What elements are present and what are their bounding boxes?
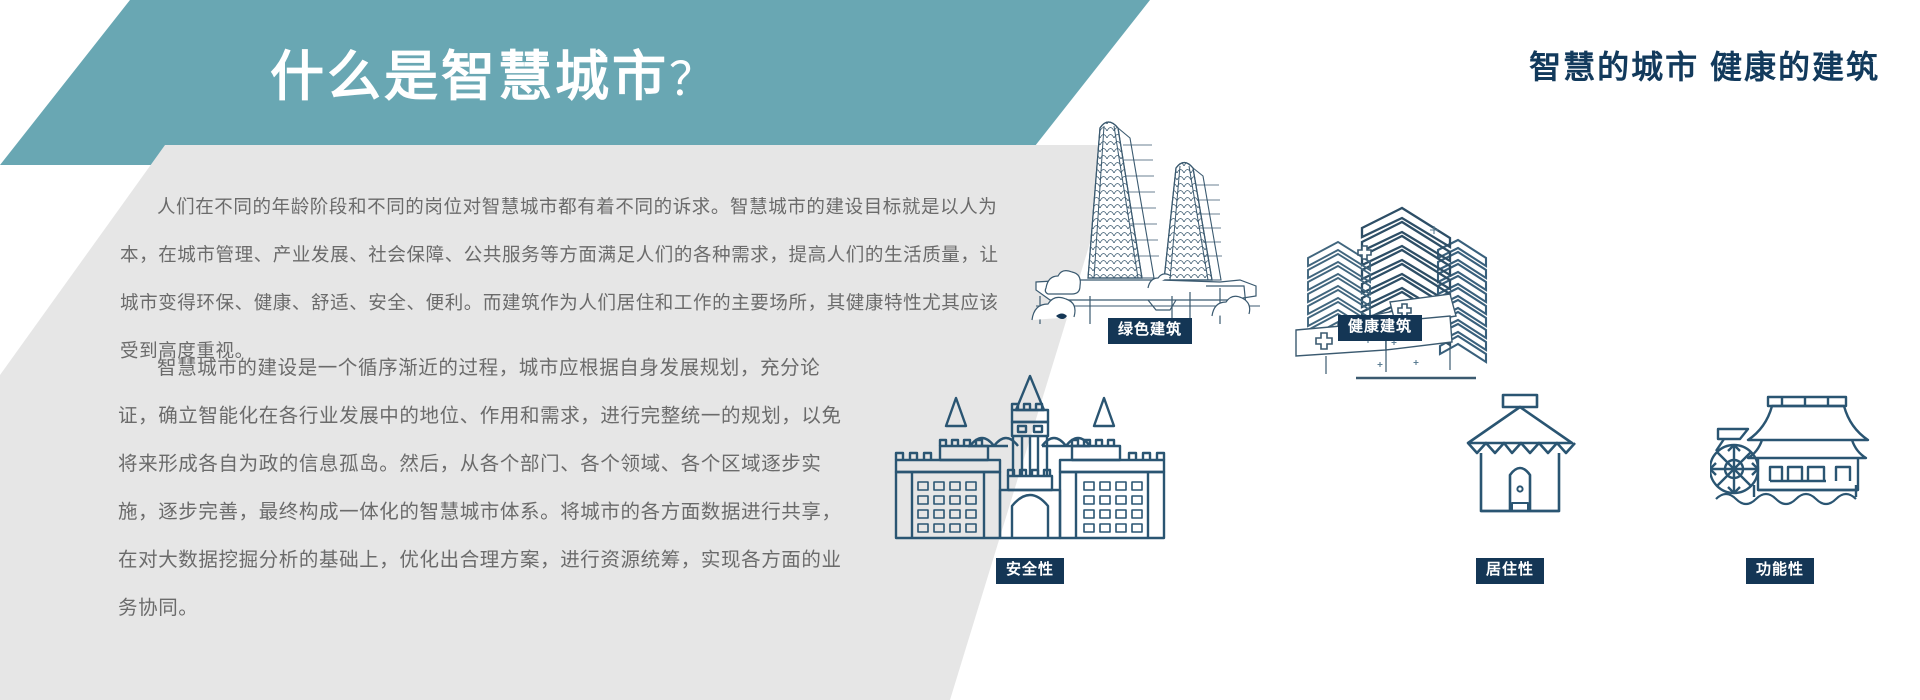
livability-illustration xyxy=(1450,385,1590,525)
watermill-pavilion-icon xyxy=(1710,385,1900,525)
badge-livability: 居住性 xyxy=(1476,558,1544,584)
functionality-label-wrap: 功能性 xyxy=(1680,558,1880,584)
health-building-illustration xyxy=(1290,170,1540,385)
badge-safety: 安全性 xyxy=(996,558,1064,584)
functionality-illustration xyxy=(1710,385,1900,525)
safety-label-wrap: 安全性 xyxy=(880,558,1180,584)
green-building-label-wrap: 绿色建筑 xyxy=(1060,318,1240,344)
badge-green-building: 绿色建筑 xyxy=(1108,318,1192,344)
safety-illustration xyxy=(880,370,1180,545)
slide-canvas: 什么是智慧城市？ 智慧的城市 健康的建筑 人们在不同的年龄阶段和不同的岗位对智慧… xyxy=(0,0,1920,700)
paragraph-one-text: 人们在不同的年龄阶段和不同的岗位对智慧城市都有着不同的诉求。智慧城市的建设目标就… xyxy=(120,196,999,361)
twin-towers-green-building-icon xyxy=(1030,110,1290,330)
green-building-illustration xyxy=(1030,110,1290,330)
badge-functionality: 功能性 xyxy=(1746,558,1814,584)
health-building-label-wrap: 健康建筑 xyxy=(1290,315,1470,341)
page-title-question-mark: ？ xyxy=(669,53,718,105)
page-title-text: 什么是智慧城市 xyxy=(270,47,669,107)
illustration-group: 绿色建筑 xyxy=(1020,100,1920,660)
headline: 智慧的城市 健康的建筑 xyxy=(1529,42,1880,88)
hospital-buildings-icon xyxy=(1290,170,1540,385)
paragraph-two: 智慧城市的建设是一个循序渐近的过程，城市应根据自身发展规划，充分论证，确立智能化… xyxy=(118,345,848,633)
paragraph-two-text: 智慧城市的建设是一个循序渐近的过程，城市应根据自身发展规划，充分论证，确立智能化… xyxy=(118,358,842,619)
livability-label-wrap: 居住性 xyxy=(1420,558,1600,584)
house-awning-icon xyxy=(1450,385,1590,525)
castle-fortress-icon xyxy=(880,370,1180,545)
page-title: 什么是智慧城市？ xyxy=(270,32,718,111)
badge-health-building: 健康建筑 xyxy=(1338,315,1422,341)
